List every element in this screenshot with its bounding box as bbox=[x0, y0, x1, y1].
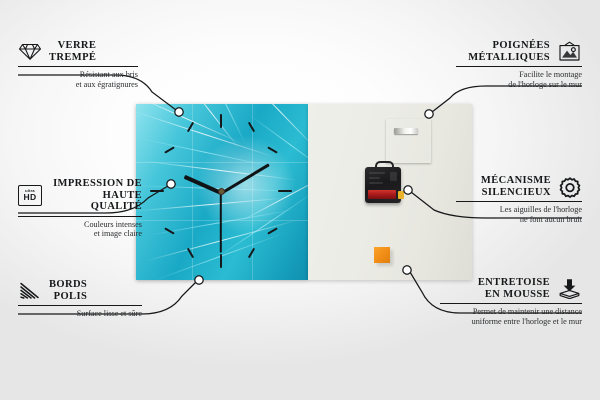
feature-description: Couleurs intenses et image claire bbox=[18, 220, 142, 239]
feature-divider bbox=[18, 216, 142, 217]
feature-divider bbox=[440, 303, 582, 304]
mechanism-loop bbox=[375, 161, 394, 171]
feature-verre-trempe: VERRE TREMPÉ Résistant aux bris et aux é… bbox=[18, 40, 138, 89]
feature-description: Permet de maintenir une distance uniform… bbox=[440, 307, 582, 326]
feature-impression-haute-qualite: ultra HD IMPRESSION DE HAUTE QUALITÉ Cou… bbox=[18, 178, 142, 239]
gear-icon bbox=[558, 176, 582, 198]
clock-hand-second bbox=[220, 193, 222, 253]
feature-title: ENTRETOISE EN MOUSSE bbox=[478, 277, 550, 300]
clock-center-cap bbox=[218, 188, 225, 195]
ultra-hd-large-label: HD bbox=[23, 193, 36, 202]
feature-entretoise-en-mousse: ENTRETOISE EN MOUSSE Permet de maintenir… bbox=[440, 277, 582, 326]
feature-title: VERRE TREMPÉ bbox=[49, 40, 96, 63]
clock-face-panel bbox=[136, 104, 308, 280]
feature-header: BORDS POLIS bbox=[18, 279, 142, 302]
foam-spacer-icon bbox=[557, 278, 582, 299]
feature-divider bbox=[456, 201, 582, 202]
metal-hanger-plate bbox=[386, 119, 431, 163]
feature-header: VERRE TREMPÉ bbox=[18, 40, 138, 63]
feature-title: MÉCANISME SILENCIEUX bbox=[481, 175, 551, 198]
feature-description: Résistant aux bris et aux égratignures bbox=[18, 70, 138, 89]
feature-poignees-metalliques: POIGNÉES MÉTALLIQUES Facilite le montage… bbox=[456, 40, 582, 89]
diamond-icon bbox=[18, 42, 42, 61]
feature-header: ultra HD IMPRESSION DE HAUTE QUALITÉ bbox=[18, 178, 142, 213]
feature-description: Surface lisse et sûre bbox=[18, 309, 142, 319]
clock-mechanism bbox=[365, 167, 401, 203]
infographic-stage: VERRE TREMPÉ Résistant aux bris et aux é… bbox=[0, 0, 600, 400]
picture-hanger-icon bbox=[557, 41, 582, 62]
feature-header: POIGNÉES MÉTALLIQUES bbox=[456, 40, 582, 63]
clock-dial bbox=[136, 104, 308, 280]
feature-title: POIGNÉES MÉTALLIQUES bbox=[468, 40, 550, 63]
feature-header: MÉCANISME SILENCIEUX bbox=[456, 175, 582, 198]
feature-description: Les aiguilles de l'horloge ne font aucun… bbox=[456, 205, 582, 224]
product-image bbox=[136, 104, 472, 280]
feature-mecanisme-silencieux: MÉCANISME SILENCIEUX Les aiguilles de l'… bbox=[456, 175, 582, 224]
battery bbox=[368, 190, 396, 199]
foam-spacer bbox=[374, 247, 390, 263]
clock-hand-hour bbox=[184, 175, 222, 195]
polished-edge-icon bbox=[18, 281, 42, 300]
ultra-hd-icon: ultra HD bbox=[18, 185, 42, 206]
feature-description: Facilite le montage de l'horloge sur le … bbox=[456, 70, 582, 89]
feature-divider bbox=[18, 66, 138, 67]
hanger-slot bbox=[394, 128, 418, 134]
feature-divider bbox=[18, 305, 142, 306]
feature-divider bbox=[456, 66, 582, 67]
feature-bords-polis: BORDS POLIS Surface lisse et sûre bbox=[18, 279, 142, 319]
feature-title: IMPRESSION DE HAUTE QUALITÉ bbox=[49, 178, 142, 213]
clock-back-panel bbox=[308, 104, 472, 280]
battery-terminal bbox=[398, 191, 404, 199]
feature-header: ENTRETOISE EN MOUSSE bbox=[440, 277, 582, 300]
feature-title: BORDS POLIS bbox=[49, 279, 87, 302]
clock-hand-minute bbox=[220, 163, 270, 194]
